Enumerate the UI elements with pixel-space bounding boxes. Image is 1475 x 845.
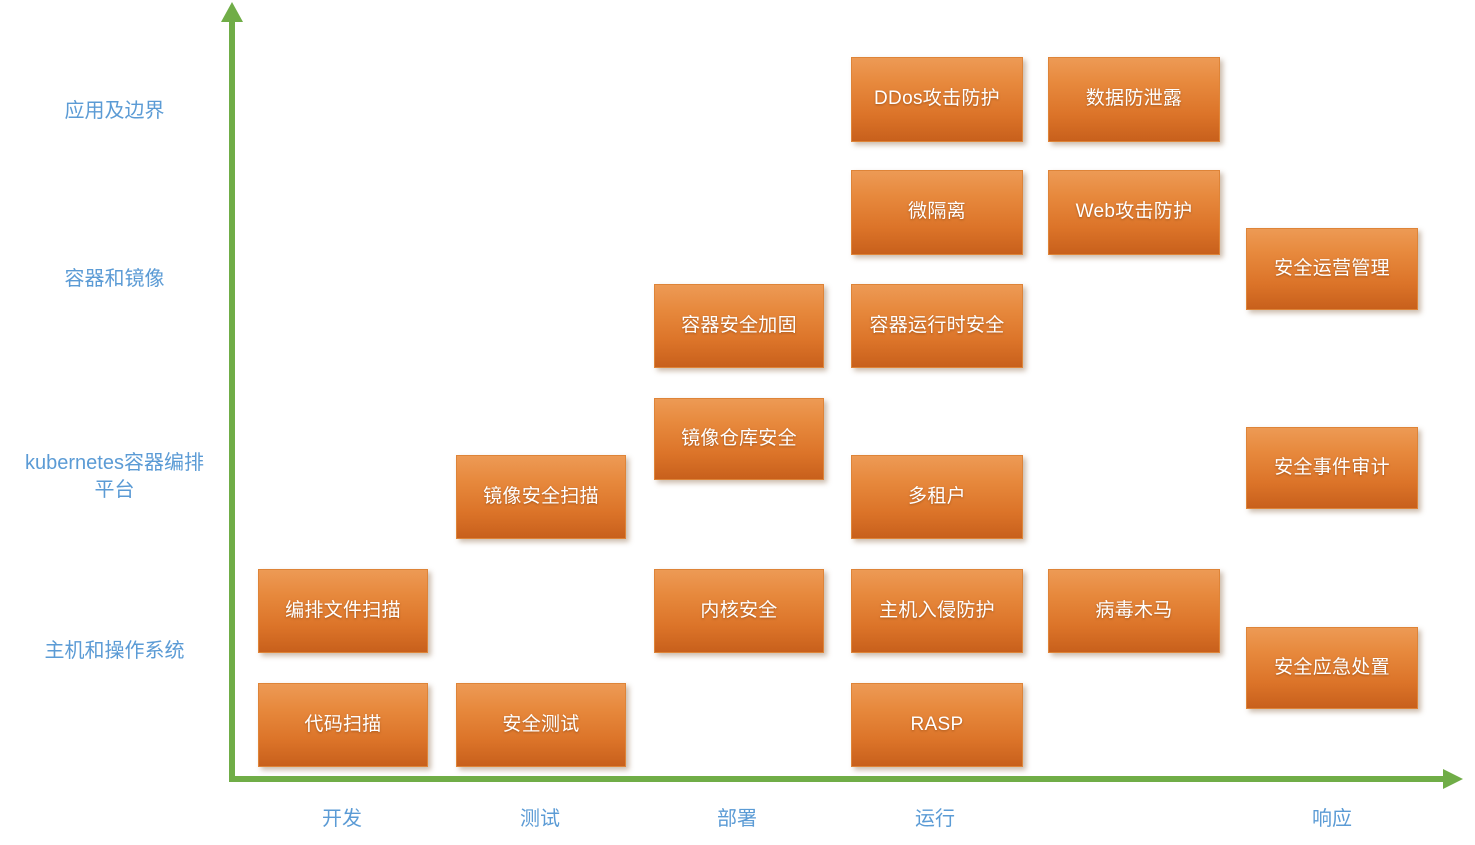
capability-box-内核安全[interactable]: 内核安全 bbox=[654, 569, 824, 653]
y-axis-label-容器和镜像: 容器和镜像 bbox=[0, 266, 229, 293]
capability-box-web攻击防护[interactable]: Web攻击防护 bbox=[1048, 170, 1220, 255]
capability-box-多租户[interactable]: 多租户 bbox=[851, 455, 1023, 539]
x-axis-arrow-icon bbox=[1443, 769, 1463, 789]
capability-box-rasp[interactable]: RASP bbox=[851, 683, 1023, 767]
y-axis-line bbox=[229, 20, 235, 782]
capability-box-主机入侵防护[interactable]: 主机入侵防护 bbox=[851, 569, 1023, 653]
capability-box-容器运行时安全[interactable]: 容器运行时安全 bbox=[851, 284, 1023, 368]
capability-box-安全测试[interactable]: 安全测试 bbox=[456, 683, 626, 767]
x-axis-line bbox=[229, 776, 1447, 782]
capability-box-镜像安全扫描[interactable]: 镜像安全扫描 bbox=[456, 455, 626, 539]
capability-box-代码扫描[interactable]: 代码扫描 bbox=[258, 683, 428, 767]
x-axis-label-测试: 测试 bbox=[450, 806, 630, 833]
capability-box-安全事件审计[interactable]: 安全事件审计 bbox=[1246, 427, 1418, 509]
capability-box-病毒木马[interactable]: 病毒木马 bbox=[1048, 569, 1220, 653]
capability-box-微隔离[interactable]: 微隔离 bbox=[851, 170, 1023, 255]
y-axis-label-应用及边界: 应用及边界 bbox=[0, 98, 229, 125]
x-axis-label-开发: 开发 bbox=[252, 806, 432, 833]
capability-box-编排文件扫描[interactable]: 编排文件扫描 bbox=[258, 569, 428, 653]
capability-box-容器安全加固[interactable]: 容器安全加固 bbox=[654, 284, 824, 368]
capability-box-安全运营管理[interactable]: 安全运营管理 bbox=[1246, 228, 1418, 310]
x-axis-label-部署: 部署 bbox=[647, 806, 827, 833]
y-axis-label-kubernetes容器编排-平台: kubernetes容器编排 平台 bbox=[0, 450, 229, 504]
y-axis-label-主机和操作系统: 主机和操作系统 bbox=[0, 638, 229, 665]
capability-box-安全应急处置[interactable]: 安全应急处置 bbox=[1246, 627, 1418, 709]
y-axis-arrow-icon bbox=[221, 2, 243, 22]
security-capability-matrix-diagram: 应用及边界容器和镜像kubernetes容器编排 平台主机和操作系统 开发测试部… bbox=[0, 0, 1475, 845]
capability-box-镜像仓库安全[interactable]: 镜像仓库安全 bbox=[654, 398, 824, 480]
capability-box-ddos攻击防护[interactable]: DDos攻击防护 bbox=[851, 57, 1023, 142]
x-axis-label-运行: 运行 bbox=[845, 806, 1025, 833]
x-axis-label-响应: 响应 bbox=[1242, 806, 1422, 833]
capability-box-数据防泄露[interactable]: 数据防泄露 bbox=[1048, 57, 1220, 142]
